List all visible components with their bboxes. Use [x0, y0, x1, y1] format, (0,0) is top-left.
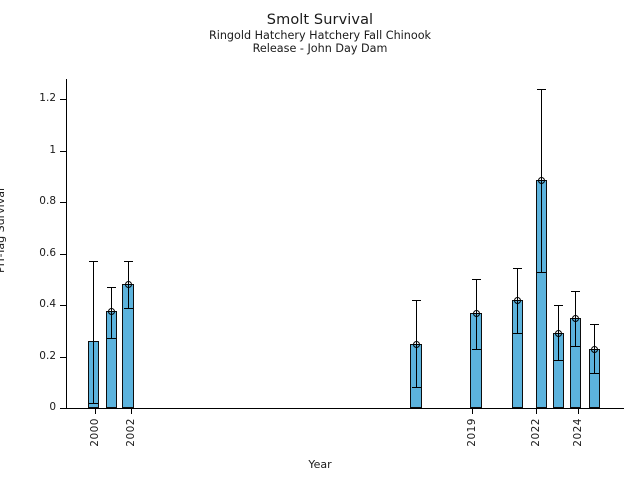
- y-axis-tick-label: 0.8: [20, 195, 56, 207]
- x-axis-tick: [95, 409, 96, 414]
- data-point-marker: [591, 346, 598, 353]
- x-axis-tick: [131, 409, 132, 414]
- y-axis-tick: [60, 202, 66, 203]
- y-axis-tick: [60, 408, 66, 409]
- plot-area: [67, 79, 624, 408]
- error-bar-cap-upper: [107, 287, 116, 288]
- x-axis-line: [66, 408, 624, 409]
- error-bar-cap-upper: [89, 261, 98, 262]
- y-axis-tick-label: 0.6: [20, 247, 56, 259]
- error-bar-cap-lower: [513, 333, 522, 334]
- data-point-marker: [413, 341, 420, 348]
- data-point-marker: [473, 310, 480, 317]
- chart-figure: Smolt Survival Ringold Hatchery Hatchery…: [0, 0, 640, 480]
- x-axis-tick: [472, 409, 473, 414]
- error-bar-cap-lower: [590, 373, 599, 374]
- y-axis-tick: [60, 151, 66, 152]
- error-bar-cap-upper: [124, 261, 133, 262]
- error-bar-cap-upper: [513, 268, 522, 269]
- y-axis-label: PIT-Tag Survival: [0, 188, 7, 273]
- error-bar-cap-lower: [412, 387, 421, 388]
- x-axis-tick-label: 2024: [572, 418, 584, 447]
- error-bar-line: [93, 261, 94, 403]
- error-bar-cap-upper: [554, 305, 563, 306]
- error-bar-cap-upper: [537, 89, 546, 90]
- y-axis-tick: [60, 254, 66, 255]
- error-bar-cap-upper: [590, 324, 599, 325]
- y-axis-tick-label: 0.4: [20, 298, 56, 310]
- chart-title: Smolt Survival: [0, 12, 640, 29]
- error-bar-cap-lower: [537, 272, 546, 273]
- error-bar-cap-lower: [472, 349, 481, 350]
- error-bar-cap-upper: [412, 300, 421, 301]
- x-axis-tick: [536, 409, 537, 414]
- x-axis-tick-label: 2019: [466, 418, 478, 447]
- chart-subtitle-line-1: Ringold Hatchery Hatchery Fall Chinook: [0, 29, 640, 42]
- x-axis-tick: [578, 409, 579, 414]
- x-axis-label: Year: [0, 458, 640, 471]
- data-point-marker: [514, 297, 521, 304]
- y-axis-tick: [60, 357, 66, 358]
- error-bar-cap-lower: [554, 360, 563, 361]
- data-point-marker: [572, 315, 579, 322]
- x-axis-tick-label: 2022: [530, 418, 542, 447]
- chart-subtitle-line-2: Release - John Day Dam: [0, 42, 640, 55]
- error-bar-cap-lower: [89, 403, 98, 404]
- y-axis-tick-label: 0.2: [20, 350, 56, 362]
- error-bar-cap-lower: [571, 346, 580, 347]
- x-axis-tick-label: 2002: [125, 418, 137, 447]
- y-axis-tick: [60, 99, 66, 100]
- x-axis-tick-label: 2000: [89, 418, 101, 447]
- y-axis-tick-label: 1.2: [20, 92, 56, 104]
- error-bar-cap-upper: [571, 291, 580, 292]
- y-axis-tick-label: 1: [20, 144, 56, 156]
- title-block: Smolt Survival Ringold Hatchery Hatchery…: [0, 12, 640, 56]
- error-bar-cap-lower: [124, 308, 133, 309]
- y-axis-tick: [60, 305, 66, 306]
- error-bar-cap-upper: [472, 279, 481, 280]
- error-bar-cap-lower: [107, 338, 116, 339]
- y-axis-tick-label: 0: [20, 401, 56, 413]
